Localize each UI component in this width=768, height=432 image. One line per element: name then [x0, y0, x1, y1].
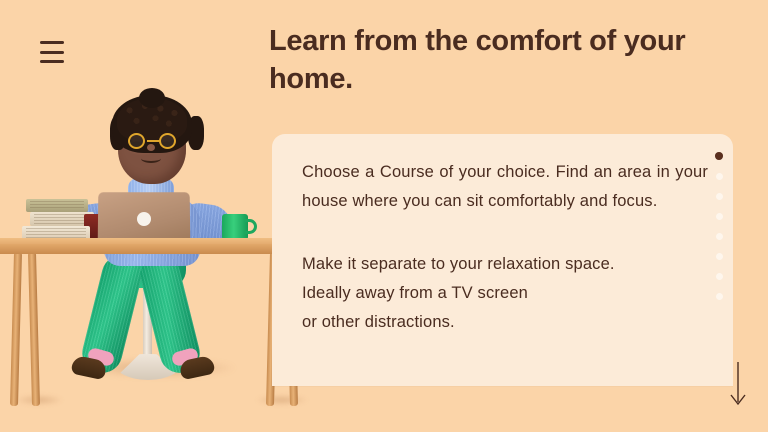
desk-leg-1: [10, 252, 22, 406]
hamburger-bar-1: [40, 41, 64, 44]
arrow-down-glyph: [728, 362, 748, 410]
paragraph-2: Make it separate to your relaxation spac…: [302, 250, 708, 338]
scroll-dot[interactable]: [716, 293, 723, 300]
desk-leg-2: [28, 252, 40, 406]
paragraph-1: Choose a Course of your choice. Find an …: [302, 158, 708, 217]
hamburger-bar-2: [40, 51, 64, 54]
content-card: Choose a Course of your choice. Find an …: [272, 134, 733, 386]
card-body: Choose a Course of your choice. Find an …: [302, 158, 708, 338]
arrow-down-icon[interactable]: [728, 362, 748, 410]
page-title: Learn from the comfort of your home.: [269, 22, 699, 99]
scroll-dot[interactable]: [716, 253, 723, 260]
scroll-dot-active[interactable]: [715, 152, 723, 160]
scroll-dot[interactable]: [716, 273, 723, 280]
page-stage: Learn from the comfort of your home.: [0, 0, 768, 432]
hamburger-bar-3: [40, 60, 64, 63]
scroll-dot[interactable]: [716, 233, 723, 240]
scroll-indicator[interactable]: [715, 152, 723, 348]
scroll-dot[interactable]: [716, 173, 723, 180]
hamburger-icon[interactable]: [40, 41, 66, 63]
scroll-dot[interactable]: [716, 193, 723, 200]
scroll-dot[interactable]: [716, 213, 723, 220]
